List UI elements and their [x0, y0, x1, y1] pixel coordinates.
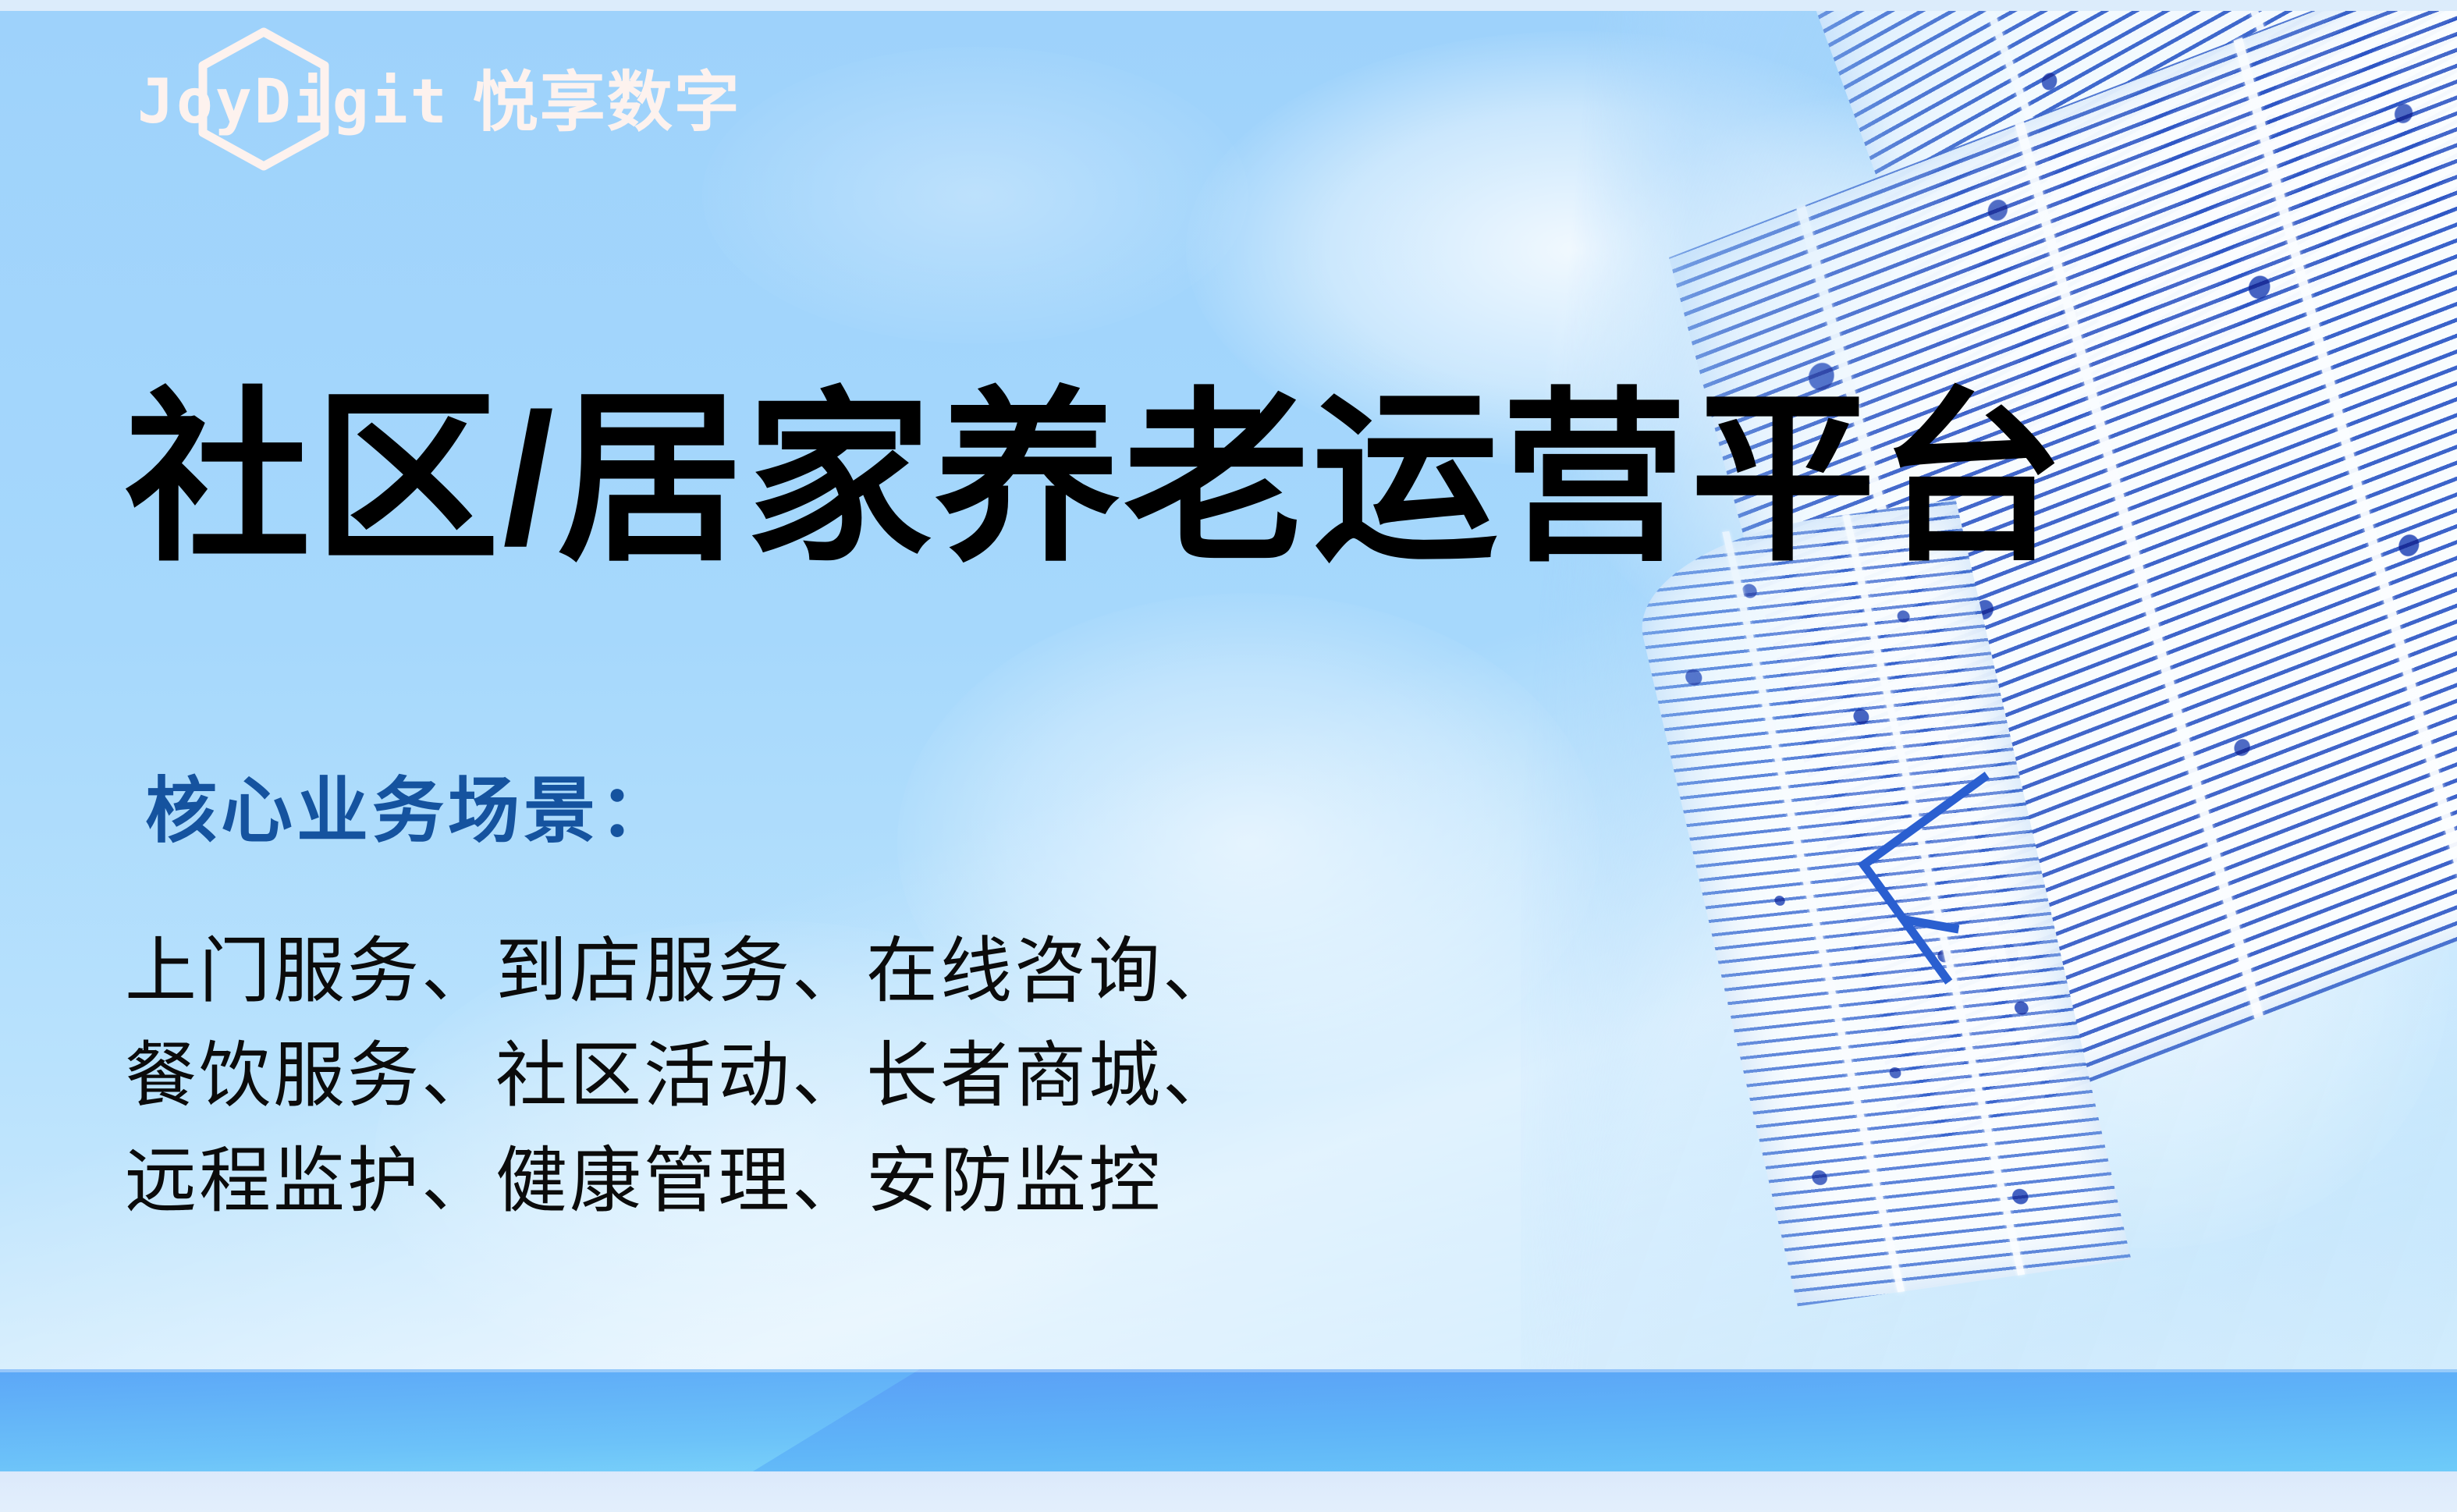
business-scenario-list: 上门服务、到店服务、在线咨询、 餐饮服务、社区活动、长者商城、 远程监护、健康管… [125, 919, 1237, 1233]
list-item: 上门服务、到店服务、在线咨询、 [125, 919, 1237, 1024]
brand-logo-chinese: 悦享数字 [473, 69, 741, 135]
list-item: 餐饮服务、社区活动、长者商城、 [125, 1024, 1237, 1128]
list-item: 远程监护、健康管理、安防监控 [125, 1129, 1237, 1233]
bottom-decorative-band [0, 1369, 2457, 1512]
slide-canvas: JoyDigit 悦享数字 社区/居家养老运营平台 核心业务场景： 上门服务、到… [0, 0, 2457, 1512]
brand-logo-latin: JoyDigit [137, 72, 449, 133]
band-bottom-strip [0, 1471, 2457, 1512]
cloud-shape [702, 47, 1248, 343]
band-top-edge [0, 1369, 2457, 1372]
brand-logo[interactable]: JoyDigit 悦享数字 [137, 61, 741, 144]
skyscraper-photo [1521, 0, 2457, 1389]
page-title: 社区/居家养老运营平台 [125, 382, 2068, 578]
section-heading: 核心业务场景： [145, 772, 675, 851]
top-edge-strip [0, 0, 2457, 11]
